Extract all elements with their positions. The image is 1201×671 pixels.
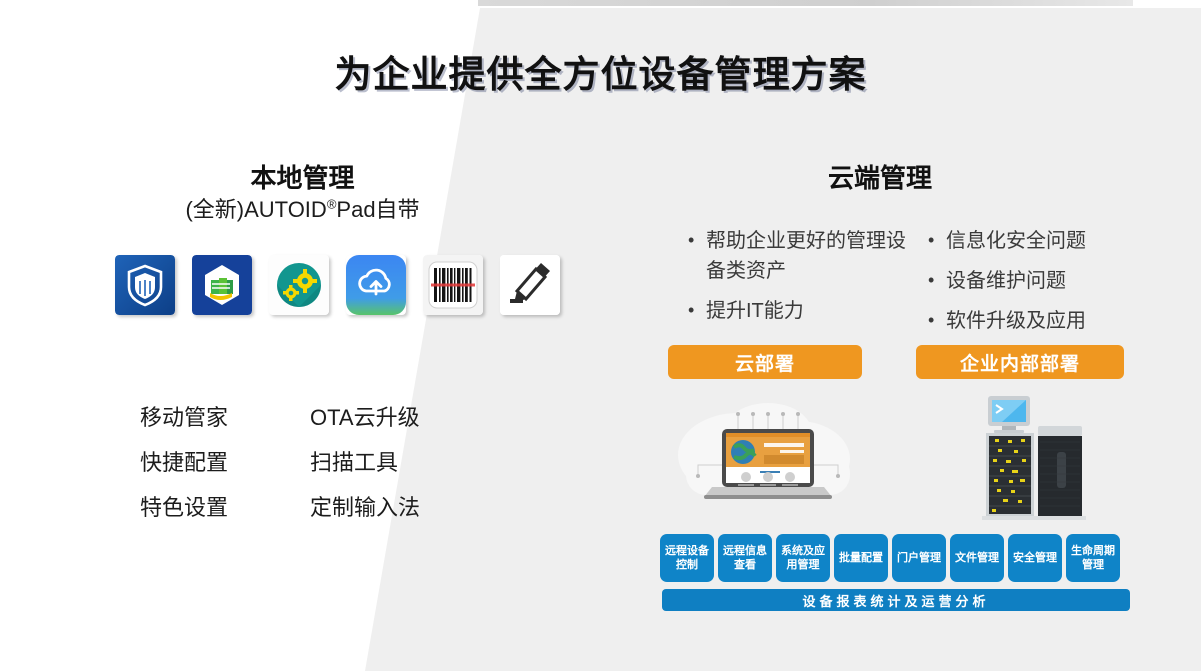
tag-remote-device-control[interactable]: 远程设备控制 bbox=[660, 534, 714, 582]
subtitle-post: Pad自带 bbox=[336, 197, 419, 222]
tag-lifecycle-management[interactable]: 生命周期管理 bbox=[1066, 534, 1120, 582]
books-stack-icon[interactable] bbox=[192, 255, 252, 315]
background-top-strip bbox=[478, 0, 1133, 6]
cloud-laptop-illustration bbox=[668, 393, 868, 521]
shield-icon[interactable] bbox=[115, 255, 175, 315]
local-feature-column-1: 移动管家 快捷配置 特色设置 bbox=[140, 395, 228, 530]
bullet-item: 软件升级及应用 bbox=[928, 306, 1128, 336]
capability-tag-row: 远程设备控制 远程信息查看 系统及应用管理 批量配置 门户管理 文件管理 安全管… bbox=[660, 534, 1120, 582]
tag-system-app-management[interactable]: 系统及应用管理 bbox=[776, 534, 830, 582]
onprem-deploy-banner[interactable]: 企业内部部署 bbox=[916, 345, 1124, 379]
feature-item: 特色设置 bbox=[140, 485, 228, 530]
local-management-heading: 本地管理 bbox=[0, 158, 605, 195]
bullet-item: 设备维护问题 bbox=[928, 266, 1128, 296]
registered-mark: ® bbox=[327, 197, 337, 212]
local-management-subtitle: (全新)AUTOID®Pad自带 bbox=[0, 192, 605, 224]
pencil-icon[interactable] bbox=[500, 255, 560, 315]
local-feature-column-2: OTA云升级 扫描工具 定制输入法 bbox=[310, 395, 420, 530]
tag-security-management[interactable]: 安全管理 bbox=[1008, 534, 1062, 582]
bullet-item: 帮助企业更好的管理设备类资产 bbox=[688, 226, 918, 286]
server-rack-illustration bbox=[962, 390, 1088, 520]
app-icon-row bbox=[115, 255, 560, 315]
feature-item: 快捷配置 bbox=[140, 440, 228, 485]
cloud-bullets-column-2: 信息化安全问题 设备维护问题 软件升级及应用 bbox=[928, 226, 1128, 346]
barcode-scanner-icon[interactable] bbox=[423, 255, 483, 315]
cloud-upload-icon[interactable] bbox=[346, 255, 406, 315]
bullet-item: 提升IT能力 bbox=[688, 296, 918, 326]
page-title: 为企业提供全方位设备管理方案 bbox=[0, 44, 1201, 98]
feature-item: OTA云升级 bbox=[310, 395, 420, 440]
tag-file-management[interactable]: 文件管理 bbox=[950, 534, 1004, 582]
tag-portal-management[interactable]: 门户管理 bbox=[892, 534, 946, 582]
slide-canvas: 为企业提供全方位设备管理方案 本地管理 (全新)AUTOID®Pad自带 bbox=[0, 0, 1201, 671]
tag-bulk-config[interactable]: 批量配置 bbox=[834, 534, 888, 582]
report-analytics-bar[interactable]: 设备报表统计及运营分析 bbox=[662, 589, 1130, 611]
tag-remote-info-view[interactable]: 远程信息查看 bbox=[718, 534, 772, 582]
gears-globe-icon[interactable] bbox=[269, 255, 329, 315]
subtitle-pre: (全新)AUTOID bbox=[185, 197, 326, 222]
cloud-management-heading: 云端管理 bbox=[640, 158, 1120, 195]
feature-item: 移动管家 bbox=[140, 395, 228, 440]
cloud-deploy-banner[interactable]: 云部署 bbox=[668, 345, 862, 379]
bullet-item: 信息化安全问题 bbox=[928, 226, 1128, 256]
feature-item: 定制输入法 bbox=[310, 485, 420, 530]
feature-item: 扫描工具 bbox=[310, 440, 420, 485]
cloud-bullets-column-1: 帮助企业更好的管理设备类资产 提升IT能力 bbox=[688, 226, 918, 336]
